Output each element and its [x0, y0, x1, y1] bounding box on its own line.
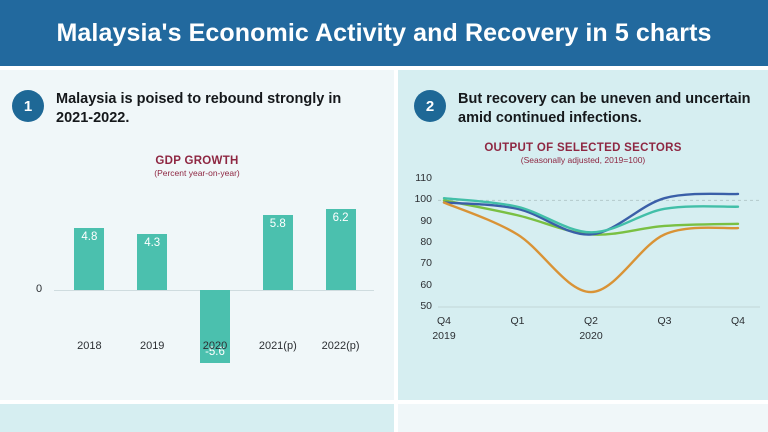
y-axis-tick-label: 50 [406, 300, 432, 312]
x-axis-tick-label: Q4 [722, 315, 754, 327]
y-axis-tick-label: 70 [406, 257, 432, 269]
x-axis-tick-label: Q1 [502, 315, 534, 327]
header-banner: Malaysia's Economic Activity and Recover… [0, 0, 768, 66]
bar-value-label: 4.8 [72, 231, 106, 243]
y-axis-tick-label: 60 [406, 279, 432, 291]
y-axis-tick-label: 110 [406, 172, 432, 184]
x-axis-tick-label: Q4 [428, 315, 460, 327]
zero-axis-label: 0 [36, 283, 42, 295]
panel-left-heading-text: Malaysia is poised to rebound strongly i… [56, 90, 382, 128]
bottom-strip-right [398, 404, 768, 432]
panel-right-heading: 2 But recovery can be uneven and uncerta… [414, 90, 764, 128]
x-axis-tick-label: Q3 [649, 315, 681, 327]
infographic-page: Malaysia's Economic Activity and Recover… [0, 0, 768, 432]
gdp-chart-subtitle: (Percent year-on-year) [14, 168, 380, 178]
bar-value-label: 4.3 [135, 237, 169, 249]
x-axis-year-label: 2019 [424, 330, 464, 342]
y-axis-tick-label: 80 [406, 236, 432, 248]
x-axis-tick-label: Q2 [575, 315, 607, 327]
sector-output-chart: OUTPUT OF SELECTED SECTORS (Seasonally a… [402, 142, 764, 400]
sector-line-plot-area: 1101009080706050Q4Q1Q2Q3Q420192020 [402, 171, 764, 321]
page-title: Malaysia's Economic Activity and Recover… [56, 19, 711, 48]
category-label: 2022(p) [302, 340, 379, 352]
panel-left-number-badge: 1 [12, 90, 44, 122]
bottom-strip-left [0, 404, 394, 432]
y-axis-tick-label: 100 [406, 193, 432, 205]
bar-value-label: 5.8 [261, 218, 295, 230]
x-axis-year-label: 2020 [571, 330, 611, 342]
series-line [444, 202, 738, 292]
sector-chart-title: OUTPUT OF SELECTED SECTORS [402, 142, 764, 154]
bar-value-label: 6.2 [324, 212, 358, 224]
sector-chart-titles: OUTPUT OF SELECTED SECTORS (Seasonally a… [402, 142, 764, 165]
panel-left-heading: 1 Malaysia is poised to rebound strongly… [12, 90, 382, 128]
panel-right: 2 But recovery can be uneven and uncerta… [398, 70, 768, 400]
panel-right-number-badge: 2 [414, 90, 446, 122]
sector-chart-subtitle: (Seasonally adjusted, 2019=100) [402, 155, 764, 165]
gdp-chart-title: GDP GROWTH [14, 155, 380, 167]
gdp-growth-chart: GDP GROWTH (Percent year-on-year) 04.820… [14, 155, 380, 375]
y-axis-tick-label: 90 [406, 215, 432, 227]
panel-right-heading-text: But recovery can be uneven and uncertain… [458, 90, 764, 128]
panel-left: 1 Malaysia is poised to rebound strongly… [0, 70, 394, 400]
gdp-bar-plot-area: 04.820184.32019-5.620205.82021(p)6.22022… [14, 178, 380, 363]
